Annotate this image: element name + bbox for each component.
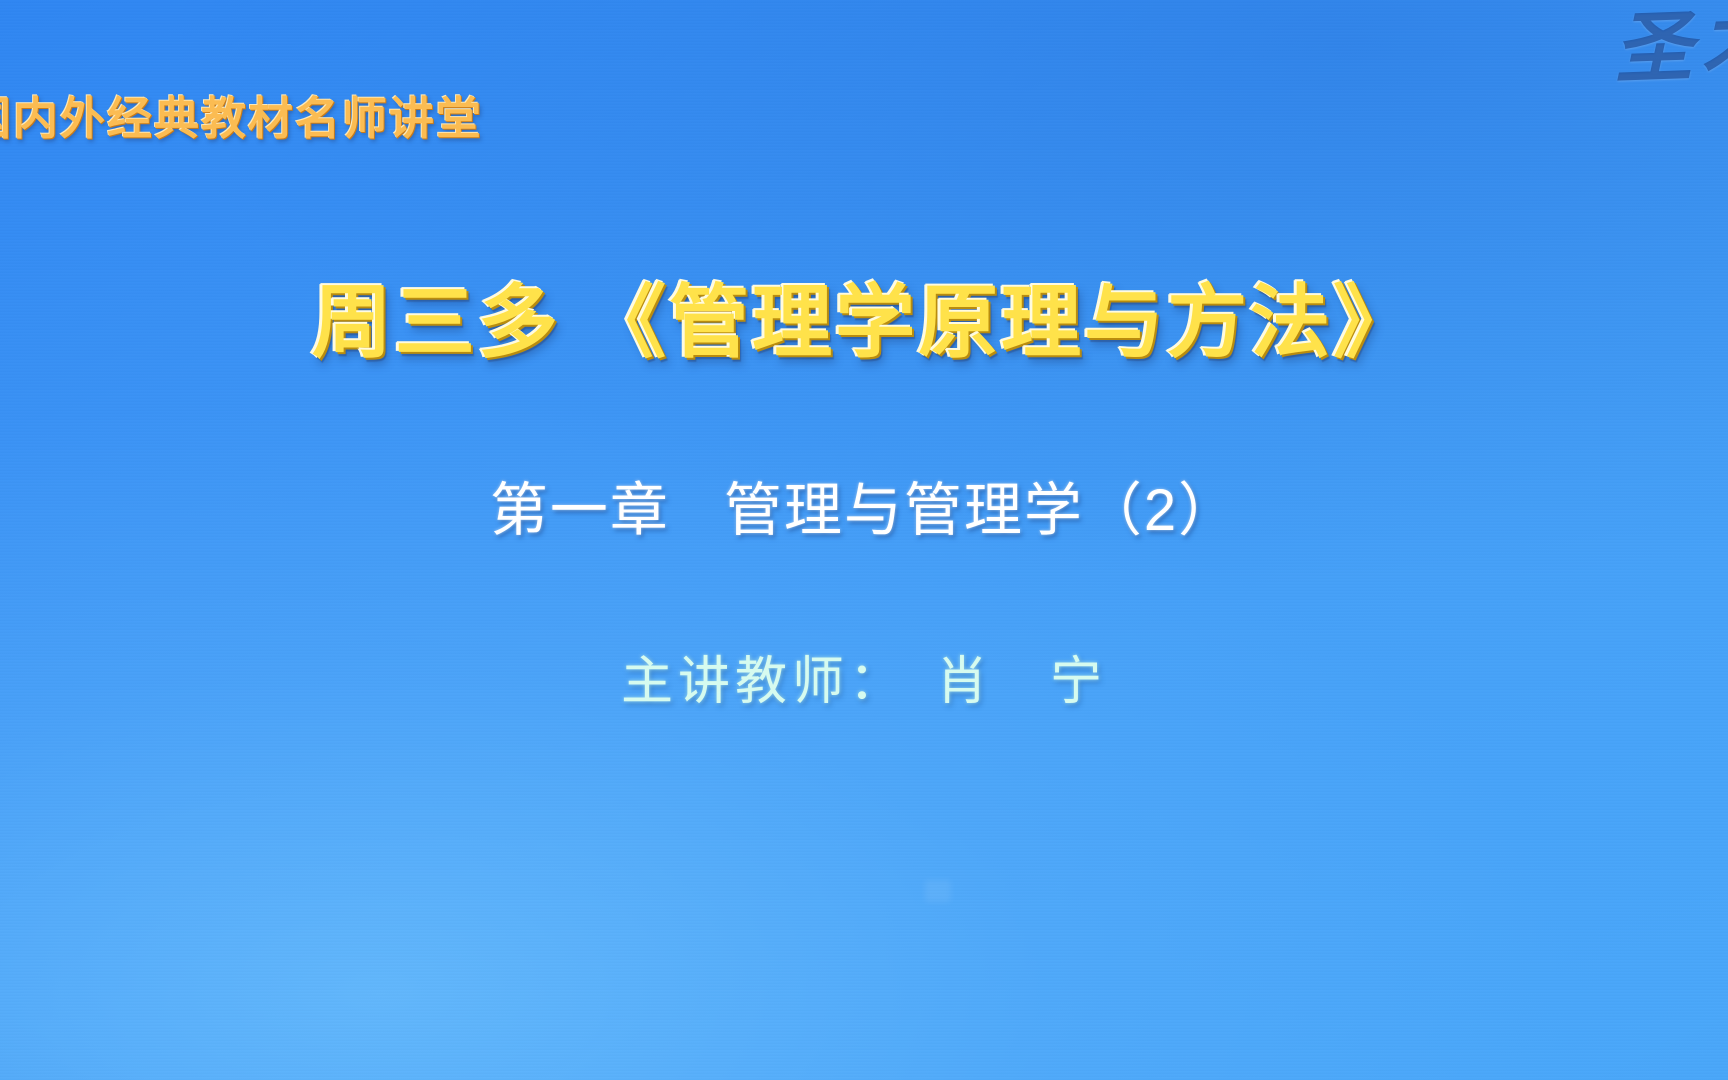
presenter-line: 主讲教师：肖 宁 bbox=[0, 657, 1728, 709]
chapter-line: 第一章管理与管理学（2） bbox=[0, 482, 1728, 540]
title-stack: 周三多 《管理学原理与方法》 第一章管理与管理学（2） 主讲教师：肖 宁 bbox=[0, 0, 1728, 1080]
page-title: 周三多 《管理学原理与方法》 bbox=[0, 283, 1728, 363]
video-compression-artifact bbox=[925, 880, 951, 902]
presenter-label: 主讲教师： bbox=[621, 654, 906, 711]
video-frame-title-slide: 国内外经典教材名师讲堂 圣才 周三多 《管理学原理与方法》 第一章管理与管理学（… bbox=[0, 0, 1728, 1080]
chapter-prefix: 第一章 bbox=[490, 478, 670, 543]
chapter-title: 管理与管理学（2） bbox=[724, 478, 1238, 543]
presenter-name: 肖 宁 bbox=[936, 654, 1107, 711]
